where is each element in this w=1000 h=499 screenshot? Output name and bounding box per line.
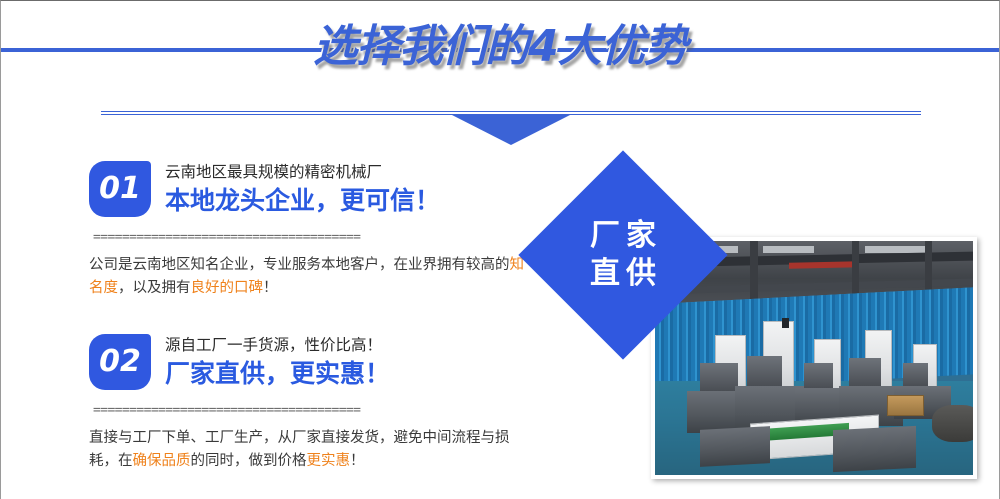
- photo-casting: [833, 426, 916, 472]
- highlighted-text: 确保品质: [133, 453, 191, 469]
- highlighted-text: 更实惠: [307, 453, 351, 469]
- photo-machine-head: [903, 363, 928, 386]
- feature-list: 01 云南地区最具规模的精密机械厂 本地龙头企业，更可信！ ==========…: [89, 161, 549, 473]
- photo-machine-head: [747, 356, 782, 386]
- body-text: 公司是云南地区知名企业，专业服务本地客户，在业界拥有较高的: [89, 257, 510, 273]
- equals-rule: =====================================: [89, 404, 549, 417]
- feature-body: 公司是云南地区知名企业，专业服务本地客户，在业界拥有较高的知名度，以及拥有良好的…: [89, 254, 529, 300]
- feature-headline: 本地龙头企业，更可信！: [165, 184, 440, 217]
- photo-wooden-crate: [887, 395, 924, 416]
- feature-item: 02 源自工厂一手货源，性价比高！ 厂家直供，更实惠！ ============…: [89, 334, 549, 473]
- equals-rule: =====================================: [89, 231, 549, 244]
- feature-subtitle: 云南地区最具规模的精密机械厂: [165, 162, 440, 183]
- photo-steel-pipe: [932, 405, 973, 442]
- photo-skylight: [763, 246, 814, 253]
- photo-machine-head: [700, 363, 738, 391]
- feature-headline: 厂家直供，更实惠！: [165, 357, 390, 390]
- photo-machine-head: [804, 363, 833, 389]
- diamond-badge: 厂家 直供: [549, 181, 697, 329]
- page-title: 选择我们的4大优势: [1, 5, 999, 89]
- diamond-badge-line1: 厂家: [584, 217, 662, 255]
- body-text: 的同时，做到价格: [191, 453, 307, 469]
- feature-subtitle: 源自工厂一手货源，性价比高！: [165, 335, 390, 356]
- photo-skylight: [865, 246, 929, 253]
- chevron-down-icon: [452, 115, 570, 145]
- photo-machine-head: [849, 358, 881, 386]
- feature-number-badge: 01: [89, 161, 151, 217]
- feature-text-block: 源自工厂一手货源，性价比高！ 厂家直供，更实惠！: [165, 334, 390, 390]
- diamond-badge-line2: 直供: [584, 255, 662, 293]
- section-divider: [101, 111, 921, 151]
- photo-lamp: [782, 318, 788, 327]
- feature-body: 直接与工厂下单、工厂生产，从厂家直接发货，避免中间流程与损耗，在确保品质的同时，…: [89, 427, 529, 473]
- promo-banner: 选择我们的4大优势 01 云南地区最具规模的精密机械厂 本地龙头企业，更可信！ …: [0, 0, 1000, 499]
- body-text: ！: [350, 453, 365, 469]
- body-text: ，以及拥有: [118, 280, 191, 296]
- feature-item: 01 云南地区最具规模的精密机械厂 本地龙头企业，更可信！ ==========…: [89, 161, 549, 300]
- feature-number-badge: 02: [89, 334, 151, 390]
- feature-header: 02 源自工厂一手货源，性价比高！ 厂家直供，更实惠！: [89, 334, 549, 390]
- highlighted-text: 良好的口碑: [191, 280, 264, 296]
- feature-header: 01 云南地区最具规模的精密机械厂 本地龙头企业，更可信！: [89, 161, 549, 217]
- body-text: ！: [263, 280, 278, 296]
- photo-casting: [700, 426, 770, 467]
- feature-text-block: 云南地区最具规模的精密机械厂 本地龙头企业，更可信！: [165, 161, 440, 217]
